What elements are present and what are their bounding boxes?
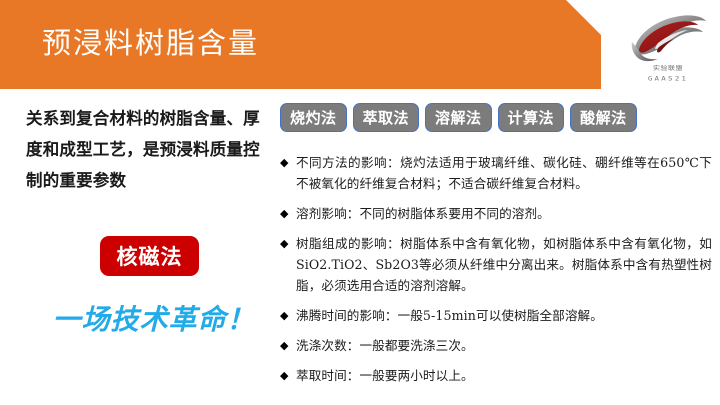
- method-tab-row: 烧灼法 萃取法 溶解法 计算法 酸解法: [280, 103, 637, 132]
- bullet-list: ◆ 不同方法的影响：烧灼法适用于玻璃纤维、碳化硅、硼纤维等在650℃下不被氧化的…: [280, 152, 712, 395]
- slogan-text: 一场技术革命！: [34, 300, 274, 340]
- tab-dissolution-method[interactable]: 溶解法: [425, 103, 492, 132]
- tab-calculation-method[interactable]: 计算法: [498, 103, 565, 132]
- list-item: ◆ 沸腾时间的影响：一般5-15min可以使树脂全部溶解。: [280, 305, 712, 326]
- list-item-text: 不同方法的影响：烧灼法适用于玻璃纤维、碳化硅、硼纤维等在650℃下不被氧化的纤维…: [296, 152, 712, 194]
- list-item: ◆ 不同方法的影响：烧灼法适用于玻璃纤维、碳化硅、硼纤维等在650℃下不被氧化的…: [280, 152, 712, 194]
- brand-logo: 实验联盟 GAAS21: [622, 12, 714, 94]
- list-item-text: 洗涤次数：一般都要洗涤三次。: [296, 335, 712, 356]
- page-title: 预浸料树脂含量: [42, 24, 259, 64]
- list-item: ◆ 萃取时间：一般要两小时以上。: [280, 365, 712, 386]
- intro-paragraph: 关系到复合材料的树脂含量、厚度和成型工艺，是预浸料质量控制的重要参数: [26, 104, 274, 197]
- list-item-text: 沸腾时间的影响：一般5-15min可以使树脂全部溶解。: [296, 305, 712, 326]
- diamond-bullet-icon: ◆: [280, 365, 296, 386]
- list-item-text: 树脂组成的影响：树脂体系中含有氧化物，如树脂体系中含有氧化物，如SiO2.TiO…: [296, 233, 712, 296]
- tab-acid-digestion-method[interactable]: 酸解法: [570, 103, 637, 132]
- diamond-bullet-icon: ◆: [280, 305, 296, 326]
- list-item-text: 萃取时间：一般要两小时以上。: [296, 365, 712, 386]
- nmr-method-badge: 核磁法: [100, 236, 199, 276]
- list-item: ◆ 洗涤次数：一般都要洗涤三次。: [280, 335, 712, 356]
- slide-canvas: 预浸料树脂含量 实验联盟 GAAS21: [0, 0, 720, 405]
- logo-caption-en: GAAS21: [622, 75, 714, 82]
- logo-caption-cn: 实验联盟: [622, 65, 714, 73]
- tab-extraction-method[interactable]: 萃取法: [353, 103, 420, 132]
- diamond-bullet-icon: ◆: [280, 152, 296, 173]
- list-item: ◆ 溶剂影响：不同的树脂体系要用不同的溶剂。: [280, 203, 712, 224]
- tab-burning-method[interactable]: 烧灼法: [280, 103, 347, 132]
- diamond-bullet-icon: ◆: [280, 335, 296, 356]
- rog-eye-emblem-icon: [628, 12, 708, 64]
- list-item: ◆ 树脂组成的影响：树脂体系中含有氧化物，如树脂体系中含有氧化物，如SiO2.T…: [280, 233, 712, 296]
- diamond-bullet-icon: ◆: [280, 233, 296, 254]
- list-item-text: 溶剂影响：不同的树脂体系要用不同的溶剂。: [296, 203, 712, 224]
- diamond-bullet-icon: ◆: [280, 203, 296, 224]
